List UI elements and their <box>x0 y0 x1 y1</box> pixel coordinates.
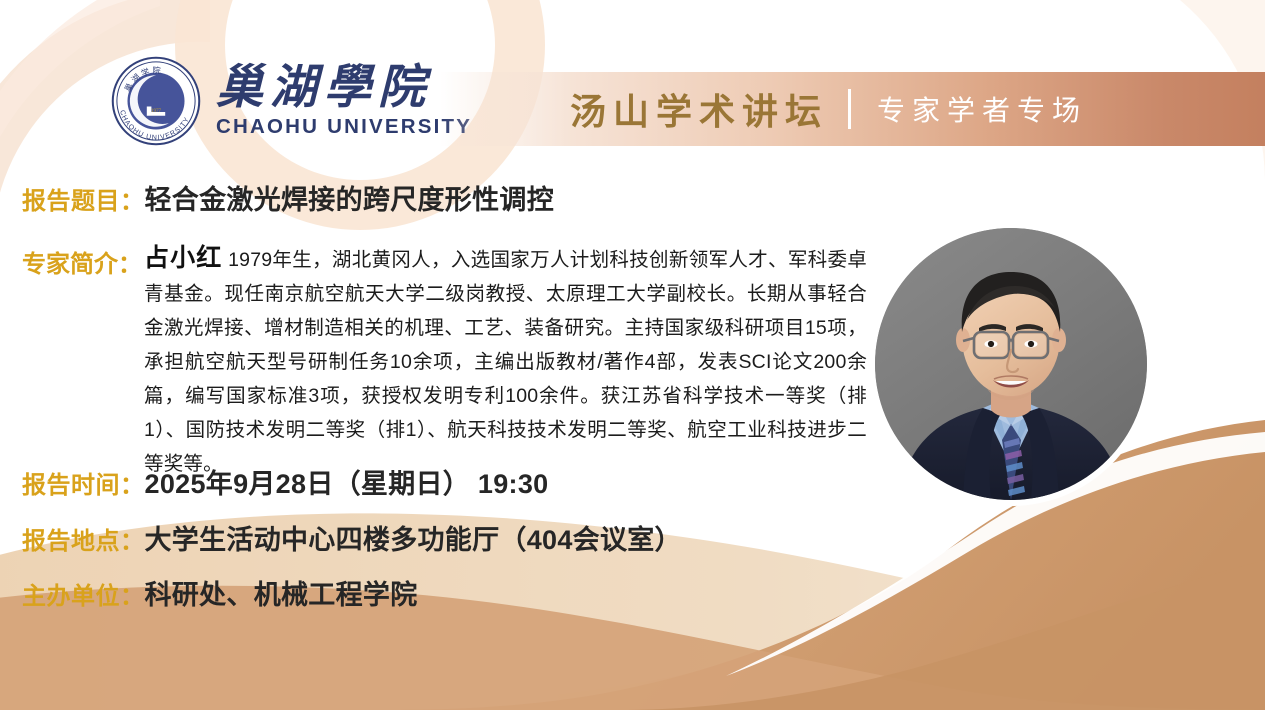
speaker-bio-block: 专家简介： 占小红 1979年生，湖北黄冈人，入选国家万人计划科技创新领军人才、… <box>22 241 867 481</box>
speaker-bio-text: 占小红 1979年生，湖北黄冈人，入选国家万人计划科技创新领军人才、军科委卓青基… <box>144 241 867 481</box>
lecture-place-row: 报告地点： 大学生活动中心四楼多功能厅（404会议室） <box>22 518 682 557</box>
lecture-poster: 1977 巢 湖 学 院 CHAOHU UNIVERSITY 巢湖學院 CHAO… <box>0 0 1265 710</box>
lecture-time-value: 2025年9月28日（星期日） 19:30 <box>145 462 549 501</box>
lecture-organizer-value: 科研处、机械工程学院 <box>145 573 418 612</box>
lecture-title-label: 报告题目： <box>22 181 145 216</box>
lecture-time-row: 报告时间： 2025年9月28日（星期日） 19:30 <box>22 462 548 501</box>
lecture-place-value: 大学生活动中心四楼多功能厅（404会议室） <box>145 518 682 557</box>
lecture-title-value: 轻合金激光焊接的跨尺度形性调控 <box>145 178 555 217</box>
university-seal-icon: 1977 巢 湖 学 院 CHAOHU UNIVERSITY <box>110 55 202 147</box>
lecture-organizer-label: 主办单位： <box>22 576 145 611</box>
lecture-organizer-row: 主办单位： 科研处、机械工程学院 <box>22 573 418 612</box>
lecture-place-label: 报告地点： <box>22 521 145 556</box>
svg-text:1977: 1977 <box>151 108 162 114</box>
university-name-cn: 巢湖學院 <box>216 63 472 114</box>
speaker-portrait-illustration <box>875 228 1147 500</box>
forum-banner: 汤山学术讲坛 专家学者专场 <box>440 72 1265 146</box>
university-name-en: CHAOHU UNIVERSITY <box>216 115 472 139</box>
lecture-time-label: 报告时间： <box>22 465 145 500</box>
speaker-bio-paragraph: 1979年生，湖北黄冈人，入选国家万人计划科技创新领军人才、军科委卓青基金。现任… <box>144 249 867 475</box>
banner-subtitle: 专家学者专场 <box>877 89 1087 129</box>
lecture-title-row: 报告题目： 轻合金激光焊接的跨尺度形性调控 <box>22 178 554 217</box>
banner-title: 汤山学术讲坛 <box>570 83 828 135</box>
university-logo: 1977 巢 湖 学 院 CHAOHU UNIVERSITY 巢湖學院 CHAO… <box>110 55 472 147</box>
speaker-bio-label: 专家简介： <box>22 244 142 279</box>
speaker-portrait-photo <box>875 228 1147 500</box>
speaker-name: 占小红 <box>144 244 222 272</box>
poster-header: 1977 巢 湖 学 院 CHAOHU UNIVERSITY 巢湖學院 CHAO… <box>0 0 1265 160</box>
wave-bottom-accent <box>620 560 1265 710</box>
banner-divider <box>848 89 851 129</box>
